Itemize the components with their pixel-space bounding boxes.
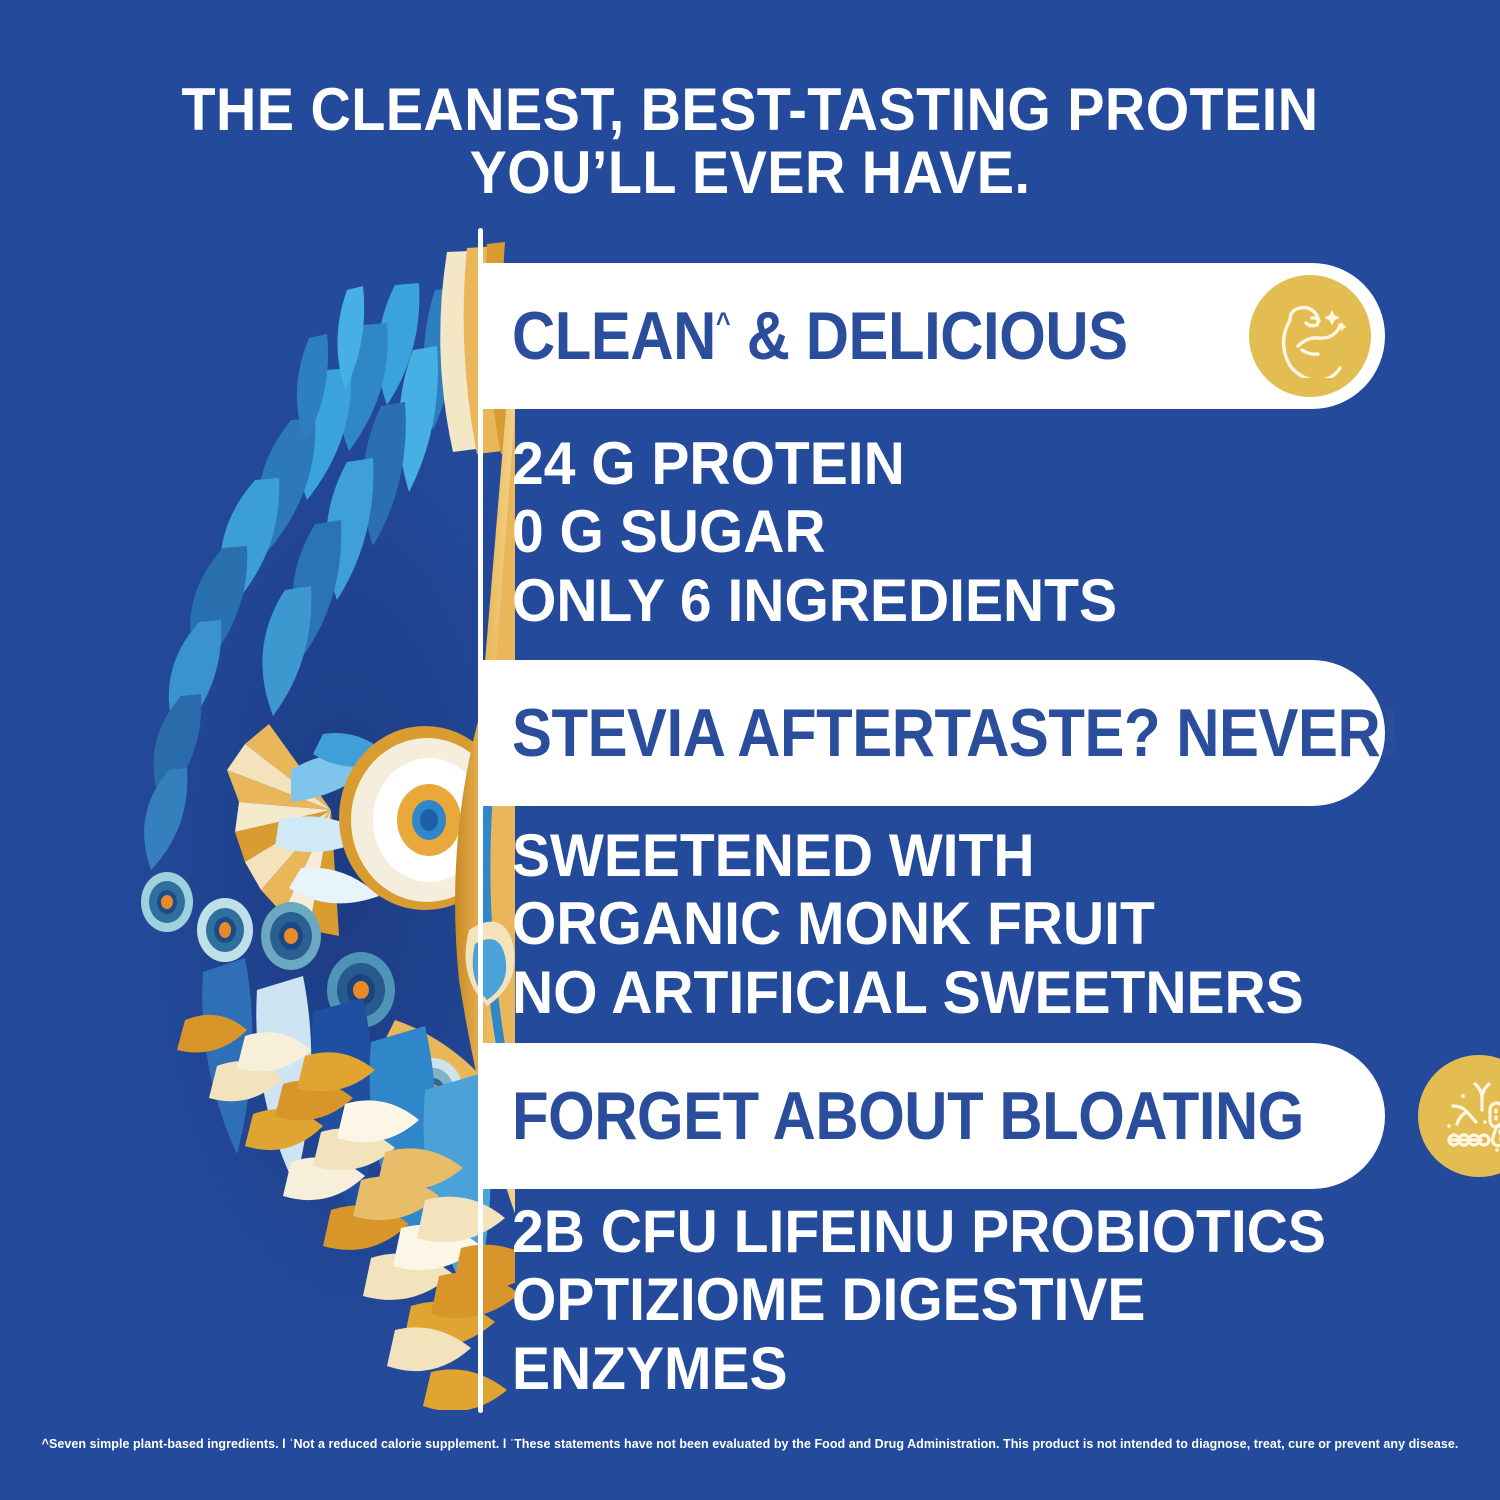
feature-banner-stevia-aftertaste: STEVIA AFTERTASTE? NEVER!	[480, 660, 1385, 806]
feature-details-clean-delicious: 24 G PROTEIN 0 G SUGAR ONLY 6 INGREDIENT…	[480, 430, 1380, 635]
feature-title-text: STEVIA AFTERTASTE? NEVER!	[512, 695, 1400, 771]
detail-line: SWEETENED WITH	[512, 822, 1337, 890]
detail-line: ORGANIC MONK FRUIT	[512, 890, 1337, 958]
feature-title-text: CLEAN	[512, 298, 716, 374]
detail-line: OPTIZIOME DIGESTIVE	[512, 1266, 1337, 1334]
paper-craft-owl-illustration	[95, 230, 515, 1410]
detail-line: 24 G PROTEIN	[512, 430, 1337, 498]
feature-details-forget-bloating: 2B CFU LIFEINU PROBIOTICS OPTIZIOME DIGE…	[480, 1198, 1380, 1403]
feature-banner-clean-delicious: CLEAN^ & DELICIOUS	[480, 263, 1385, 409]
footnote-marker: ^	[716, 307, 731, 339]
legal-footnote: ^Seven simple plant-based ingredients. l…	[0, 1437, 1500, 1451]
feature-title-stevia-aftertaste: STEVIA AFTERTASTE? NEVER!	[512, 699, 1400, 767]
detail-line: ENZYMES	[512, 1335, 1337, 1403]
feature-details-stevia-aftertaste: SWEETENED WITH ORGANIC MONK FRUIT NO ART…	[480, 822, 1380, 1027]
detail-line: 0 G SUGAR	[512, 498, 1337, 566]
feature-banner-forget-bloating: FORGET ABOUT BLOATING	[480, 1043, 1385, 1189]
feature-title-text: FORGET ABOUT BLOATING	[512, 1078, 1304, 1154]
feature-title-forget-bloating: FORGET ABOUT BLOATING	[512, 1082, 1304, 1150]
detail-line: ONLY 6 INGREDIENTS	[512, 567, 1337, 635]
feature-title-clean-delicious: CLEAN^ & DELICIOUS	[512, 302, 1155, 370]
flexed-bicep-icon	[1249, 275, 1371, 397]
detail-line: 2B CFU LIFEINU PROBIOTICS	[512, 1198, 1337, 1266]
probiotic-bacteria-icon	[1418, 1055, 1500, 1177]
headline-line-2: YOU’LL EVER HAVE.	[53, 141, 1448, 204]
feature-title-rest: & DELICIOUS	[731, 298, 1128, 374]
page-title: THE CLEANEST, BEST-TASTING PROTEIN YOU’L…	[53, 78, 1448, 204]
headline-line-1: THE CLEANEST, BEST-TASTING PROTEIN	[53, 78, 1448, 141]
detail-line: NO ARTIFICIAL SWEETNERS	[512, 959, 1337, 1027]
